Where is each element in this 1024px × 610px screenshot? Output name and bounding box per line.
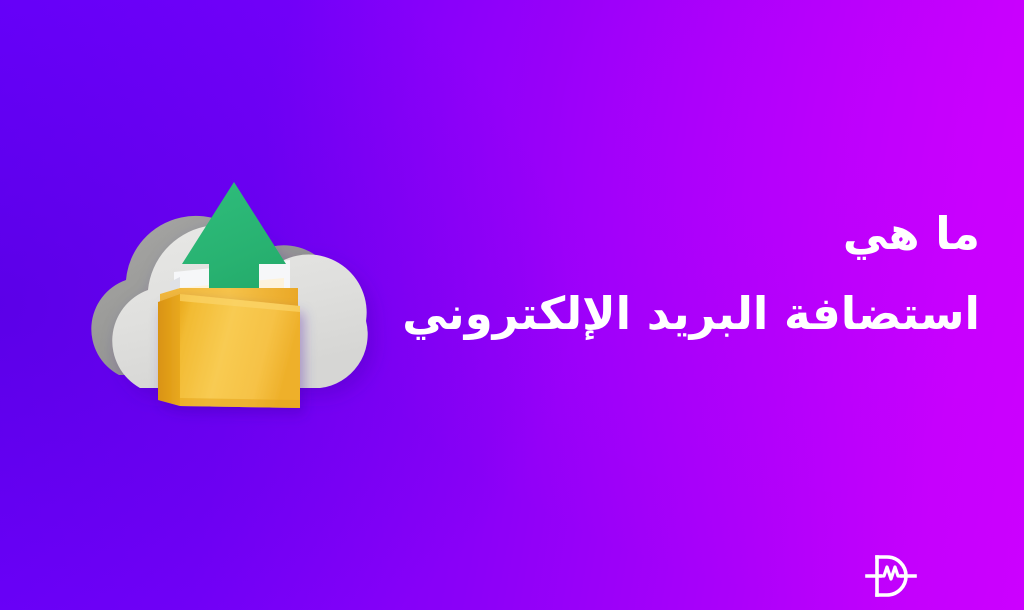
headline-line-1: ما هي <box>380 206 980 262</box>
banner-canvas: ما هي استضافة البريد الإلكتروني <box>0 0 1024 610</box>
cloud-upload-folder-illustration <box>62 160 392 430</box>
headline-line-2: استضافة البريد الإلكتروني <box>380 286 980 342</box>
folder-body <box>158 294 300 408</box>
headline-block: ما هي استضافة البريد الإلكتروني <box>380 206 980 343</box>
brand-logo[interactable] <box>861 549 921 603</box>
